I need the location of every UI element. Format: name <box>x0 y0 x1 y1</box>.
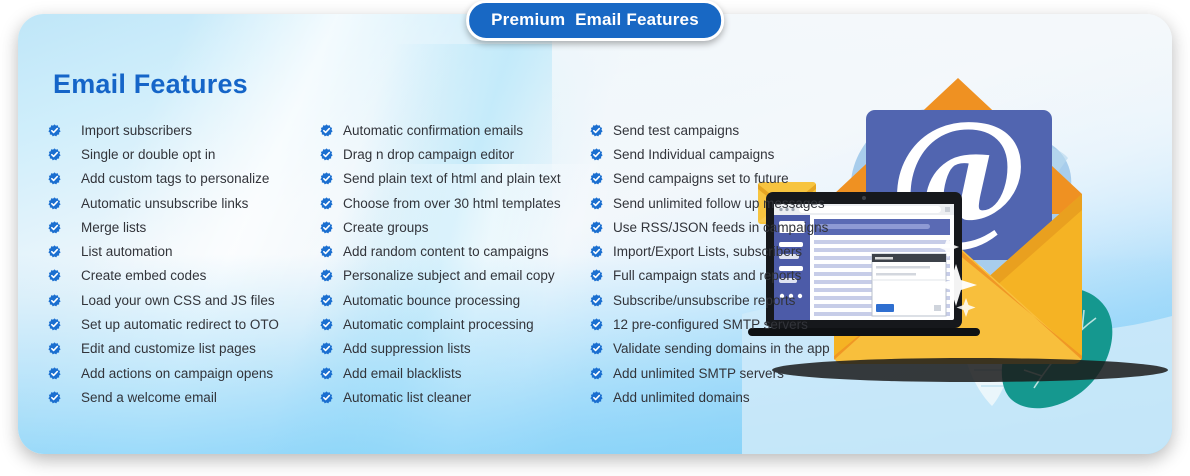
feature-label: Personalize subject and email copy <box>343 268 555 283</box>
feature-label: Import/Export Lists, subscribers <box>613 244 802 259</box>
feature-label: Automatic complaint processing <box>343 317 534 332</box>
feature-label: Subscribe/unsubscribe reports <box>613 293 795 308</box>
feature-item: Personalize subject and email copy <box>320 264 590 288</box>
check-badge-icon <box>320 221 333 234</box>
check-badge-icon <box>320 391 333 404</box>
feature-label: Validate sending domains in the app <box>613 341 830 356</box>
feature-label: Choose from over 30 html templates <box>343 196 561 211</box>
check-badge-icon <box>320 245 333 258</box>
feature-label: Create embed codes <box>81 268 206 283</box>
feature-item: Add unlimited SMTP servers <box>590 361 870 385</box>
feature-label: Add unlimited SMTP servers <box>613 366 784 381</box>
check-badge-icon <box>590 269 603 282</box>
feature-label: Send Individual campaigns <box>613 147 774 162</box>
feature-item: Automatic list cleaner <box>320 385 590 409</box>
check-badge-icon <box>590 124 603 137</box>
feature-item: Set up automatic redirect to OTO <box>48 312 320 336</box>
feature-item: Send test campaigns <box>590 118 870 142</box>
check-badge-icon <box>320 367 333 380</box>
feature-item: Load your own CSS and JS files <box>48 288 320 312</box>
feature-label: Send a welcome email <box>81 390 217 405</box>
check-badge-icon <box>48 318 61 331</box>
feature-item: Automatic complaint processing <box>320 312 590 336</box>
check-badge-icon <box>48 245 61 258</box>
check-badge-icon <box>590 197 603 210</box>
feature-item: Choose from over 30 html templates <box>320 191 590 215</box>
check-badge-icon <box>590 342 603 355</box>
feature-item: Drag n drop campaign editor <box>320 142 590 166</box>
feature-item: Send a welcome email <box>48 385 320 409</box>
check-badge-icon <box>320 197 333 210</box>
check-badge-icon <box>590 391 603 404</box>
feature-item: Automatic unsubscribe links <box>48 191 320 215</box>
check-badge-icon <box>590 318 603 331</box>
check-badge-icon <box>590 172 603 185</box>
feature-item: Send Individual campaigns <box>590 142 870 166</box>
feature-label: Set up automatic redirect to OTO <box>81 317 279 332</box>
feature-label: Use RSS/JSON feeds in campaigns <box>613 220 828 235</box>
feature-columns: Import subscribers Single or double opt … <box>48 118 870 410</box>
feature-column-3: Send test campaigns Send Individual camp… <box>590 118 870 410</box>
feature-label: Automatic bounce processing <box>343 293 520 308</box>
feature-item: Use RSS/JSON feeds in campaigns <box>590 215 870 239</box>
feature-label: Automatic confirmation emails <box>343 123 523 138</box>
feature-label: Create groups <box>343 220 429 235</box>
feature-label: Load your own CSS and JS files <box>81 293 275 308</box>
feature-item: Edit and customize list pages <box>48 337 320 361</box>
feature-label: Send plain text of html and plain text <box>343 171 561 186</box>
page-title: Email Features <box>53 69 248 100</box>
feature-label: Single or double opt in <box>81 147 215 162</box>
feature-item: Automatic bounce processing <box>320 288 590 312</box>
features-card: @ <box>18 14 1172 454</box>
check-badge-icon <box>48 294 61 307</box>
check-badge-icon <box>320 269 333 282</box>
feature-label: Full campaign stats and reports <box>613 268 801 283</box>
feature-label: Edit and customize list pages <box>81 341 256 356</box>
feature-item: Create groups <box>320 215 590 239</box>
check-badge-icon <box>48 269 61 282</box>
check-badge-icon <box>320 172 333 185</box>
feature-item: Automatic confirmation emails <box>320 118 590 142</box>
feature-label: List automation <box>81 244 173 259</box>
check-badge-icon <box>48 221 61 234</box>
feature-item: Single or double opt in <box>48 142 320 166</box>
feature-item: Add actions on campaign opens <box>48 361 320 385</box>
feature-label: Merge lists <box>81 220 146 235</box>
feature-item: Subscribe/unsubscribe reports <box>590 288 870 312</box>
check-badge-icon <box>48 148 61 161</box>
check-badge-icon <box>320 318 333 331</box>
feature-item: Add suppression lists <box>320 337 590 361</box>
feature-item: Import subscribers <box>48 118 320 142</box>
check-badge-icon <box>48 124 61 137</box>
feature-item: List automation <box>48 239 320 263</box>
feature-label: Add suppression lists <box>343 341 471 356</box>
page-root: @ <box>0 0 1190 476</box>
feature-label: Automatic list cleaner <box>343 390 471 405</box>
feature-item: Add custom tags to personalize <box>48 167 320 191</box>
check-badge-icon <box>48 367 61 380</box>
premium-badge: Premium Email Features <box>466 0 724 41</box>
feature-label: Send unlimited follow up messages <box>613 196 825 211</box>
feature-label: 12 pre-configured SMTP servers <box>613 317 808 332</box>
check-badge-icon <box>590 245 603 258</box>
check-badge-icon <box>590 148 603 161</box>
feature-label: Add random content to campaigns <box>343 244 549 259</box>
feature-label: Send campaigns set to future <box>613 171 789 186</box>
feature-item: Send campaigns set to future <box>590 167 870 191</box>
feature-label: Drag n drop campaign editor <box>343 147 514 162</box>
check-badge-icon <box>320 124 333 137</box>
feature-item: Send unlimited follow up messages <box>590 191 870 215</box>
check-badge-icon <box>320 342 333 355</box>
check-badge-icon <box>320 148 333 161</box>
feature-item: 12 pre-configured SMTP servers <box>590 312 870 336</box>
feature-item: Full campaign stats and reports <box>590 264 870 288</box>
feature-item: Add unlimited domains <box>590 385 870 409</box>
feature-item: Add email blacklists <box>320 361 590 385</box>
feature-column-2: Automatic confirmation emails Drag n dro… <box>320 118 590 410</box>
feature-column-1: Import subscribers Single or double opt … <box>48 118 320 410</box>
feature-label: Add unlimited domains <box>613 390 750 405</box>
check-badge-icon <box>590 294 603 307</box>
feature-item: Send plain text of html and plain text <box>320 167 590 191</box>
feature-item: Add random content to campaigns <box>320 239 590 263</box>
feature-item: Validate sending domains in the app <box>590 337 870 361</box>
feature-label: Add custom tags to personalize <box>81 171 269 186</box>
feature-label: Add email blacklists <box>343 366 462 381</box>
check-badge-icon <box>590 221 603 234</box>
feature-label: Import subscribers <box>81 123 192 138</box>
feature-item: Create embed codes <box>48 264 320 288</box>
check-badge-icon <box>48 197 61 210</box>
feature-label: Automatic unsubscribe links <box>81 196 248 211</box>
feature-item: Import/Export Lists, subscribers <box>590 239 870 263</box>
check-badge-icon <box>590 367 603 380</box>
feature-label: Send test campaigns <box>613 123 739 138</box>
check-badge-icon <box>48 391 61 404</box>
check-badge-icon <box>48 342 61 355</box>
check-badge-icon <box>320 294 333 307</box>
feature-item: Merge lists <box>48 215 320 239</box>
feature-label: Add actions on campaign opens <box>81 366 273 381</box>
check-badge-icon <box>48 172 61 185</box>
